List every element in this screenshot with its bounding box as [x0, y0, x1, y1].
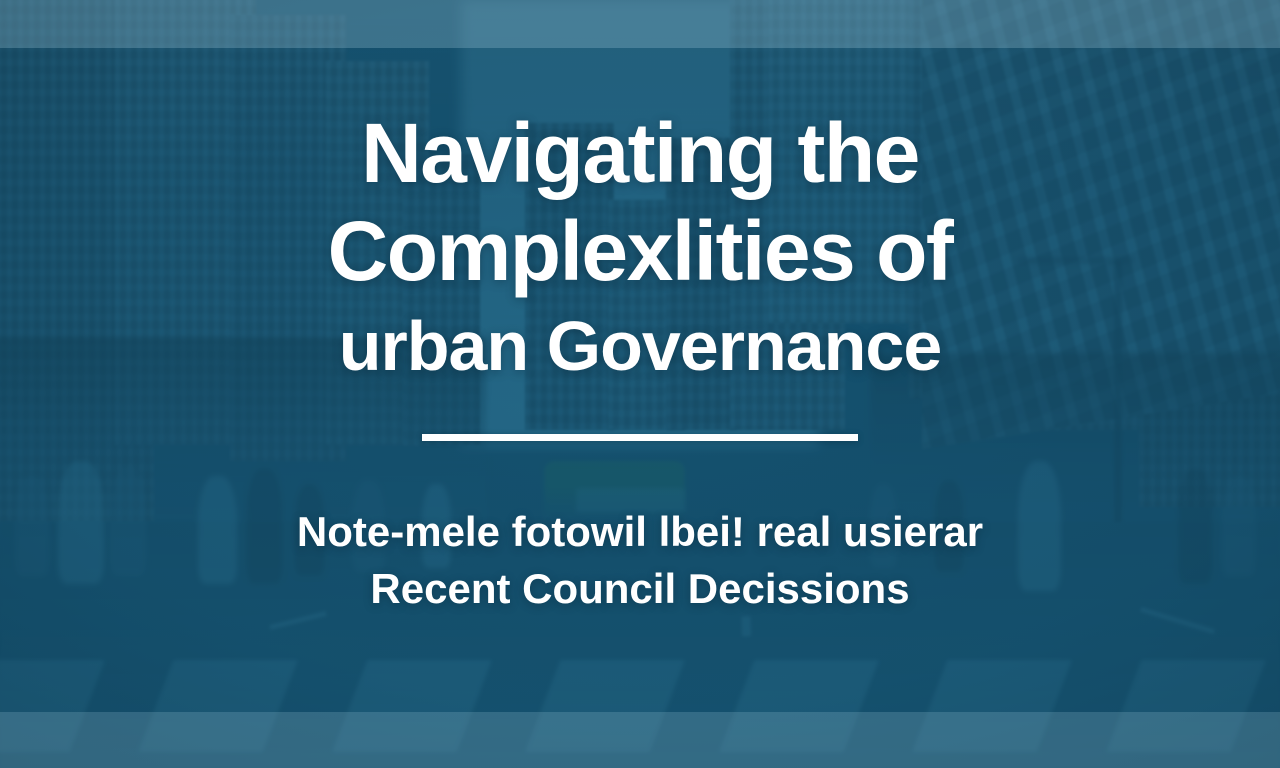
subtitle-line-2: Recent Council Decissions — [140, 560, 1140, 617]
title-line-3: urban Governance — [190, 300, 1090, 392]
slide-subtitle: Note-mele fotowil lbei! real usierar Rec… — [140, 503, 1140, 617]
title-card-slide: Navigating the Complexlities of urban Go… — [0, 0, 1280, 768]
subtitle-line-1: Note-mele fotowil lbei! real usierar — [140, 503, 1140, 560]
page-title: Navigating the Complexlities of urban Go… — [190, 104, 1090, 392]
title-line-2: Complexlities of — [328, 204, 953, 298]
title-line-1: Navigating the — [361, 106, 919, 200]
title-divider — [422, 434, 858, 441]
slide-content: Navigating the Complexlities of urban Go… — [0, 0, 1280, 768]
